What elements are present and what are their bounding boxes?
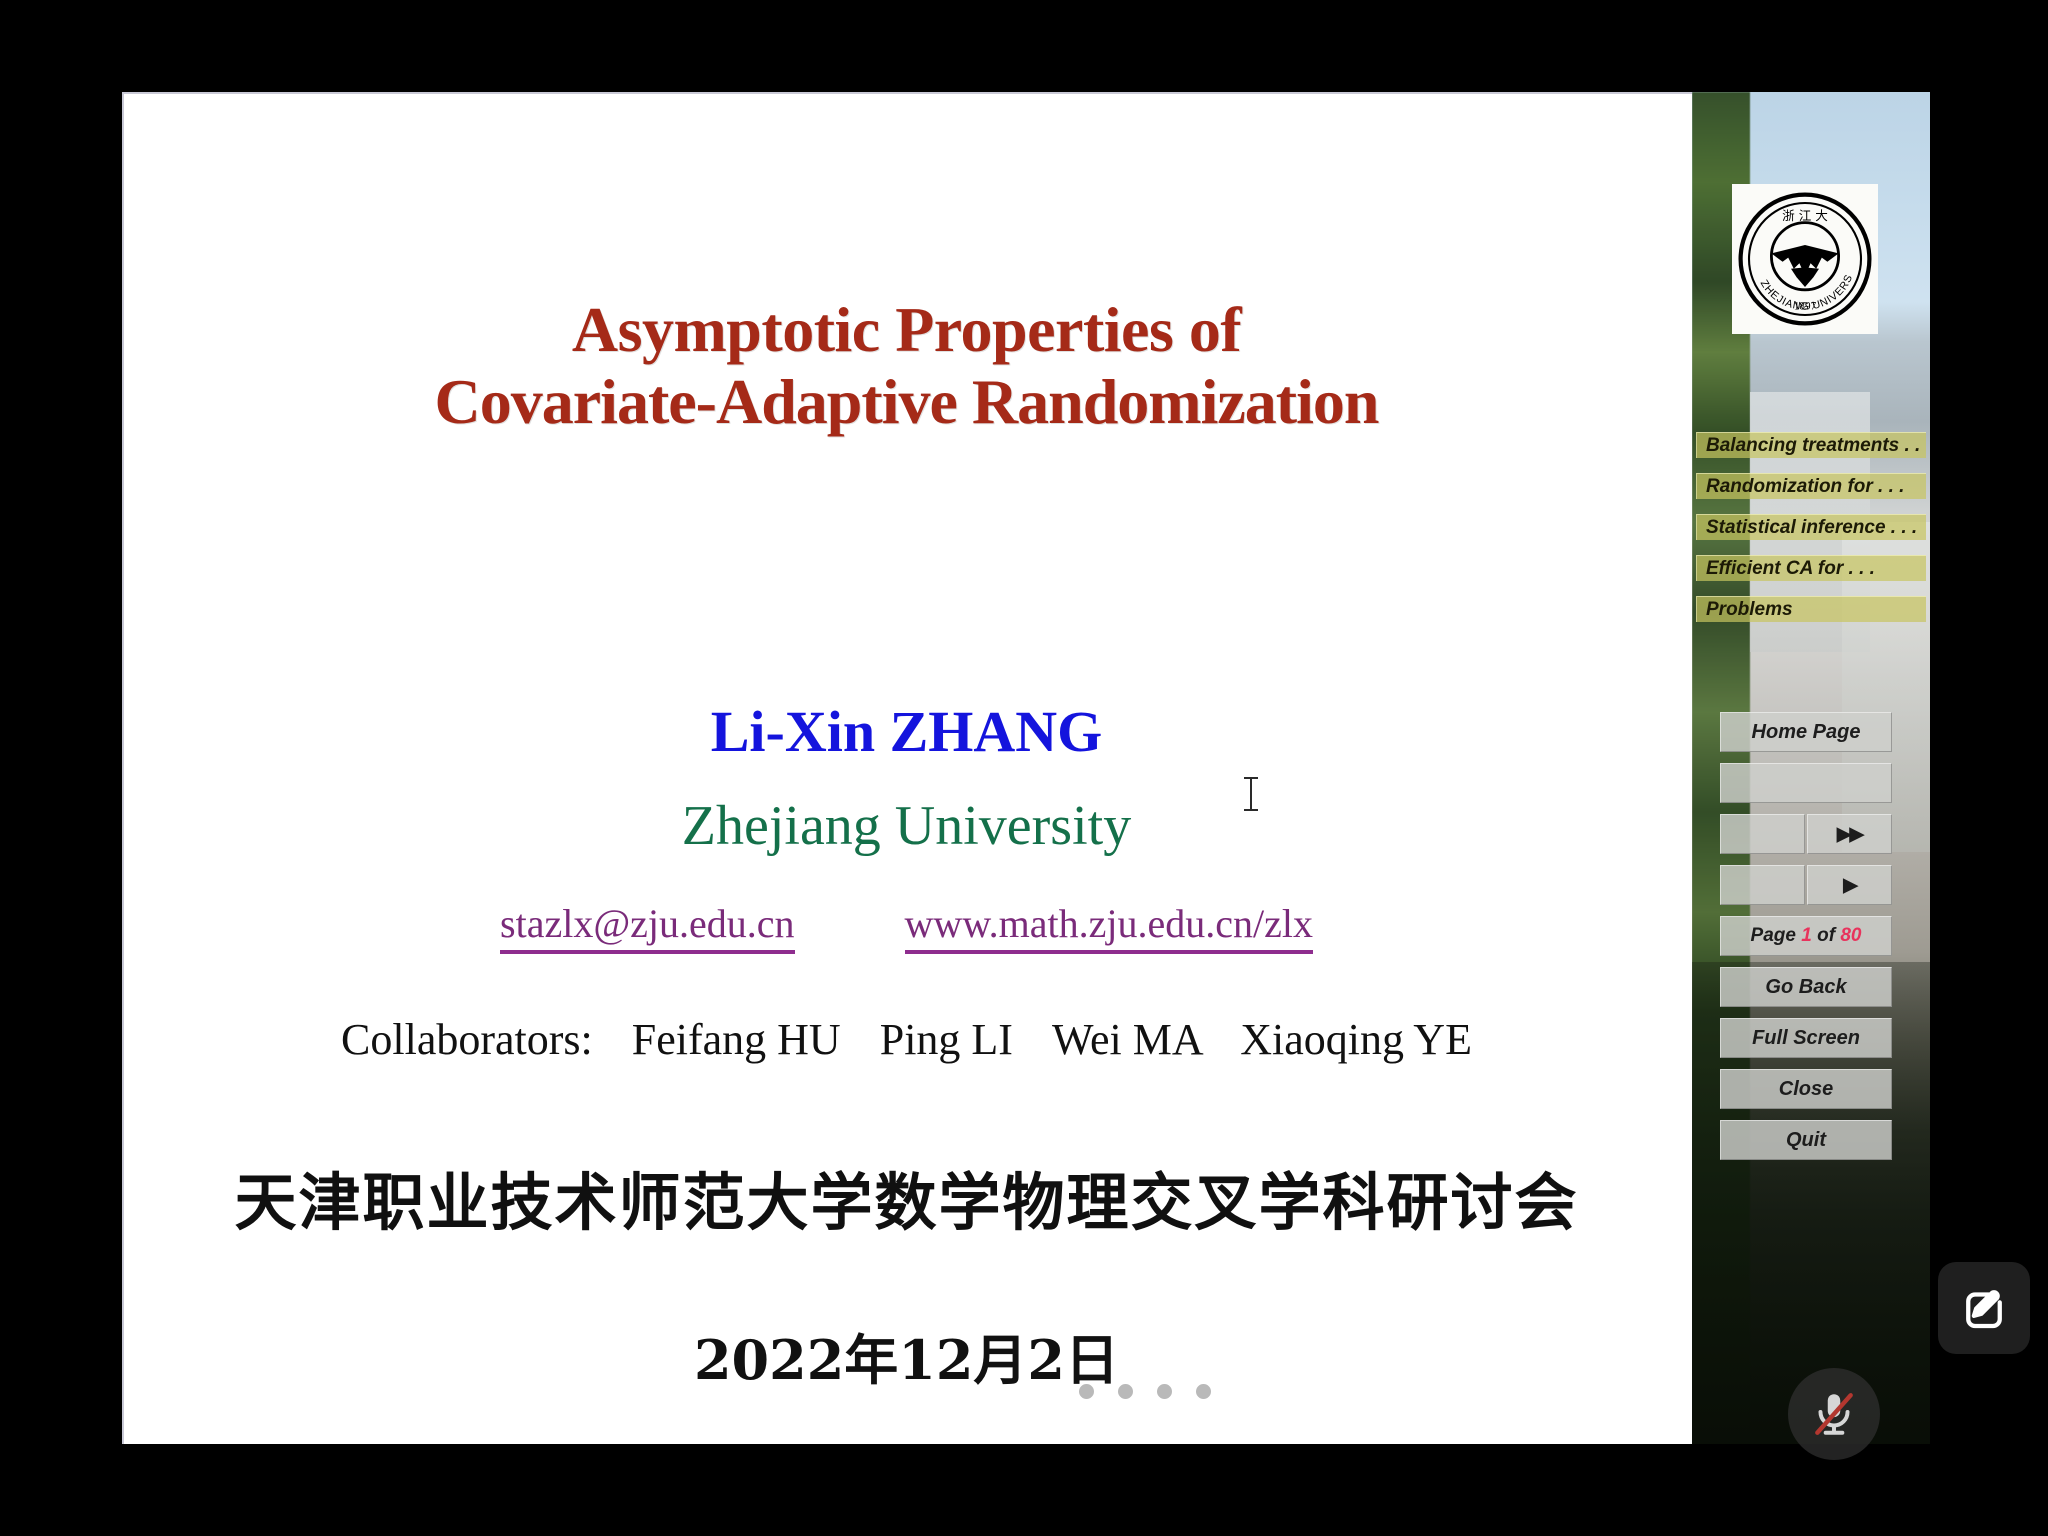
website-link[interactable]: www.math.zju.edu.cn/zlx — [905, 900, 1313, 954]
dot-4 — [1196, 1384, 1211, 1399]
full-screen-button[interactable]: Full Screen — [1720, 1018, 1892, 1058]
event-date-chinese: 2022年12月2日 — [124, 1316, 1689, 1395]
author-affiliation: Zhejiang University — [124, 794, 1689, 858]
dot-2 — [1118, 1384, 1133, 1399]
collaborator-3: Wei MA — [1052, 1015, 1201, 1064]
slide-title-line1: Asymptotic Properties of — [124, 294, 1689, 366]
collaborator-2: Ping LI — [880, 1015, 1013, 1064]
nav-item-efficient-ca-for[interactable]: Efficient CA for . . . — [1696, 555, 1926, 581]
page-of-label: of — [1817, 925, 1835, 946]
blank-button[interactable] — [1720, 763, 1892, 803]
collaborators-line: Collaborators: Feifang HU Ping LI Wei MA… — [124, 1014, 1689, 1065]
text-cursor-icon — [1244, 777, 1258, 811]
contact-links: stazlx@zju.edu.cn www.math.zju.edu.cn/zl… — [124, 900, 1689, 954]
screen: Asymptotic Properties of Covariate-Adapt… — [0, 0, 2048, 1536]
viewer-controls: Home Page ▶▶ ▶ Page 1 of 80 Go Back — [1720, 712, 1892, 1171]
page-dots-indicator — [1079, 1384, 1211, 1399]
microphone-toggle-button[interactable] — [1788, 1368, 1880, 1460]
home-page-button[interactable]: Home Page — [1720, 712, 1892, 752]
nav-item-statistical-inference[interactable]: Statistical inference . . . — [1696, 514, 1926, 540]
page-prefix-label: Page — [1751, 925, 1796, 946]
event-title-chinese: 天津职业技术师范大学数学物理交叉学科研讨会 — [124, 1152, 1689, 1242]
next-page-button[interactable]: ▶ — [1807, 865, 1892, 905]
pencil-square-icon — [1957, 1281, 2011, 1335]
dot-3 — [1157, 1384, 1172, 1399]
previous-page-button[interactable] — [1720, 865, 1805, 905]
forward-fast-button[interactable]: ▶▶ — [1807, 814, 1892, 854]
nav-item-balancing-treatments[interactable]: Balancing treatments . . . — [1696, 432, 1926, 458]
slide-content: Asymptotic Properties of Covariate-Adapt… — [124, 94, 1689, 1444]
slide-title: Asymptotic Properties of Covariate-Adapt… — [124, 294, 1689, 438]
collaborator-4: Xiaoqing YE — [1240, 1015, 1472, 1064]
page-counter: Page 1 of 80 — [1720, 916, 1892, 956]
nav-item-problems[interactable]: Problems — [1696, 596, 1926, 622]
annotate-button[interactable] — [1938, 1262, 2030, 1354]
slide-title-line2: Covariate-Adaptive Randomization — [124, 366, 1689, 438]
dot-1 — [1079, 1384, 1094, 1399]
svg-text:浙 江 大: 浙 江 大 — [1782, 208, 1828, 223]
author-name: Li-Xin ZHANG — [124, 698, 1689, 765]
page-total-value: 80 — [1840, 925, 1861, 946]
go-back-button[interactable]: Go Back — [1720, 967, 1892, 1007]
email-link[interactable]: stazlx@zju.edu.cn — [500, 900, 795, 954]
section-nav-list: Balancing treatments . . . Randomization… — [1696, 432, 1926, 637]
nav-item-randomization-for[interactable]: Randomization for . . . — [1696, 473, 1926, 499]
page-current-value: 1 — [1801, 925, 1812, 946]
presentation-nav-pane: 1897 浙 江 大 ZHEJIANG UNIVERSITY Balancing… — [1692, 92, 1930, 1444]
close-button[interactable]: Close — [1720, 1069, 1892, 1109]
rewind-fast-button[interactable] — [1720, 814, 1805, 854]
zhejiang-university-logo: 1897 浙 江 大 ZHEJIANG UNIVERSITY — [1732, 184, 1878, 334]
play-icon: ▶ — [1843, 875, 1856, 896]
collaborators-label: Collaborators: — [341, 1015, 593, 1064]
fast-nav-row: ▶▶ — [1720, 814, 1892, 854]
step-nav-row: ▶ — [1720, 865, 1892, 905]
fast-forward-icon: ▶▶ — [1837, 824, 1862, 845]
slide-viewer[interactable]: Asymptotic Properties of Covariate-Adapt… — [122, 92, 1930, 1444]
microphone-muted-icon — [1809, 1389, 1859, 1439]
collaborator-1: Feifang HU — [632, 1015, 841, 1064]
quit-button[interactable]: Quit — [1720, 1120, 1892, 1160]
